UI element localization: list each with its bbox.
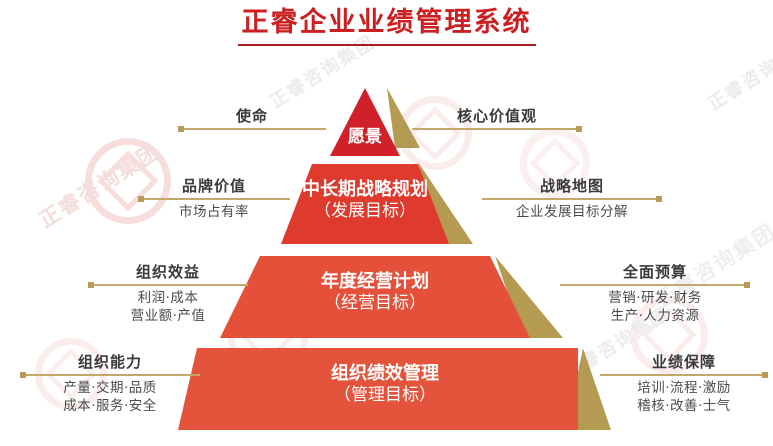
callout-full-budget-head: 全面预算 [560, 262, 750, 282]
tier-label-strategy-main: 中长期战略规划 [302, 179, 428, 200]
tier-label-strategy-sub: （发展目标） [275, 201, 455, 223]
callout-mission: 使命 [178, 106, 326, 133]
tier-label-annual-main: 年度经营计划 [321, 271, 429, 292]
watermark-text: 正睿咨询集团 [182, 342, 298, 428]
callout-strategy-map: 战略地图 企业发展目标分解 [482, 176, 662, 221]
callout-mission-head: 使命 [178, 106, 326, 126]
seal-watermark [398, 96, 472, 170]
rule-dot [20, 372, 26, 378]
watermark-text: 正睿咨询集团 [33, 136, 166, 235]
pyramid-tier-strategy[interactable] [281, 164, 449, 244]
pyramid-tier-annual[interactable] [220, 256, 530, 338]
callout-perf-guarantee-line-1: 培训·流程·激励 [600, 379, 768, 397]
callout-core-values-head: 核心价值观 [412, 106, 582, 126]
rule-dot [178, 126, 184, 132]
callout-brand-value: 品牌价值 市场占有率 [138, 176, 290, 221]
callout-brand-value-line-1: 市场占有率 [138, 203, 290, 221]
gold-shadow-tier3 [495, 256, 563, 338]
callout-org-capacity-head: 组织能力 [20, 352, 200, 372]
pyramid-tier-performance[interactable] [197, 348, 578, 430]
pyramid-tier-performance-bevel [178, 348, 197, 430]
seal-watermark [228, 296, 308, 376]
callout-perf-guarantee-line-2: 稽核·改善·士气 [600, 397, 768, 415]
callout-full-budget-line-1: 营销·研发·财务 [560, 289, 750, 307]
rule-dot [744, 282, 750, 288]
pyramid-gold-shadows [387, 88, 611, 430]
tier-label-performance-main: 组织绩效管理 [331, 363, 439, 384]
tier-label-annual: 年度经营计划 （经营目标） [285, 270, 465, 315]
rule-dot [656, 196, 662, 202]
rule-dot [576, 126, 582, 132]
callout-org-benefit-line-2: 营业额·产值 [88, 307, 248, 325]
tier-label-vision: 愿景 [315, 127, 415, 149]
watermark-text: 正睿咨询集团 [649, 216, 773, 315]
watermark-text: 正睿咨询集团 [426, 342, 542, 428]
seal-watermark [520, 128, 590, 198]
gold-shadow-tier4 [566, 348, 611, 430]
tier-label-performance: 组织绩效管理 （管理目标） [295, 362, 475, 407]
callout-strategy-map-head: 战略地图 [482, 176, 662, 196]
pyramid-tier-vision[interactable] [330, 88, 400, 156]
callout-brand-value-head: 品牌价值 [138, 176, 290, 196]
callout-org-capacity-line-2: 成本·服务·安全 [20, 397, 200, 415]
gold-shadow-tier2 [418, 162, 473, 244]
callout-perf-guarantee-head: 业绩保障 [600, 352, 768, 372]
seal-watermark [630, 296, 708, 374]
callout-full-budget-line-2: 生产·人力资源 [560, 307, 750, 325]
infographic-canvas: 正睿咨询集团 正睿咨询集团 正睿咨询集团 正睿咨询集团 正睿咨询集团 正睿咨询集… [0, 0, 773, 446]
callout-org-benefit: 组织效益 利润·成本 营业额·产值 [88, 262, 248, 325]
callout-org-benefit-rule [88, 284, 248, 286]
page-title: 正睿企业业绩管理系统 [0, 6, 773, 46]
rule-dot [88, 282, 94, 288]
gold-shadow-tier1 [387, 88, 420, 148]
seal-watermark [85, 138, 171, 224]
callout-org-capacity-rule [20, 374, 200, 376]
page-title-text: 正睿企业业绩管理系统 [238, 6, 536, 46]
callout-perf-guarantee-rule [600, 374, 768, 376]
tier-label-vision-main: 愿景 [348, 127, 382, 147]
callout-full-budget-rule [560, 284, 750, 286]
pyramid-graphic [0, 0, 773, 446]
callout-brand-value-rule [138, 198, 290, 200]
watermark-text: 正睿咨询集团 [558, 300, 674, 386]
callout-strategy-map-rule [482, 198, 662, 200]
callout-core-values: 核心价值观 [412, 106, 582, 133]
callout-org-benefit-line-1: 利润·成本 [88, 289, 248, 307]
seal-watermark [35, 338, 107, 410]
rule-dot [138, 196, 144, 202]
callout-mission-rule [178, 128, 326, 130]
rule-dot [762, 372, 768, 378]
callout-full-budget: 全面预算 营销·研发·财务 生产·人力资源 [560, 262, 750, 325]
callout-core-values-rule [412, 128, 582, 130]
callout-perf-guarantee: 业绩保障 培训·流程·激励 稽核·改善·士气 [600, 352, 768, 415]
tier-label-performance-sub: （管理目标） [295, 385, 475, 407]
tier-label-strategy: 中长期战略规划 （发展目标） [275, 178, 455, 223]
callout-org-capacity-line-1: 产量·交期·品质 [20, 379, 200, 397]
callout-strategy-map-line-1: 企业发展目标分解 [482, 203, 662, 221]
callout-org-capacity: 组织能力 产量·交期·品质 成本·服务·安全 [20, 352, 200, 415]
tier-label-annual-sub: （经营目标） [285, 293, 465, 315]
callout-org-benefit-head: 组织效益 [88, 262, 248, 282]
